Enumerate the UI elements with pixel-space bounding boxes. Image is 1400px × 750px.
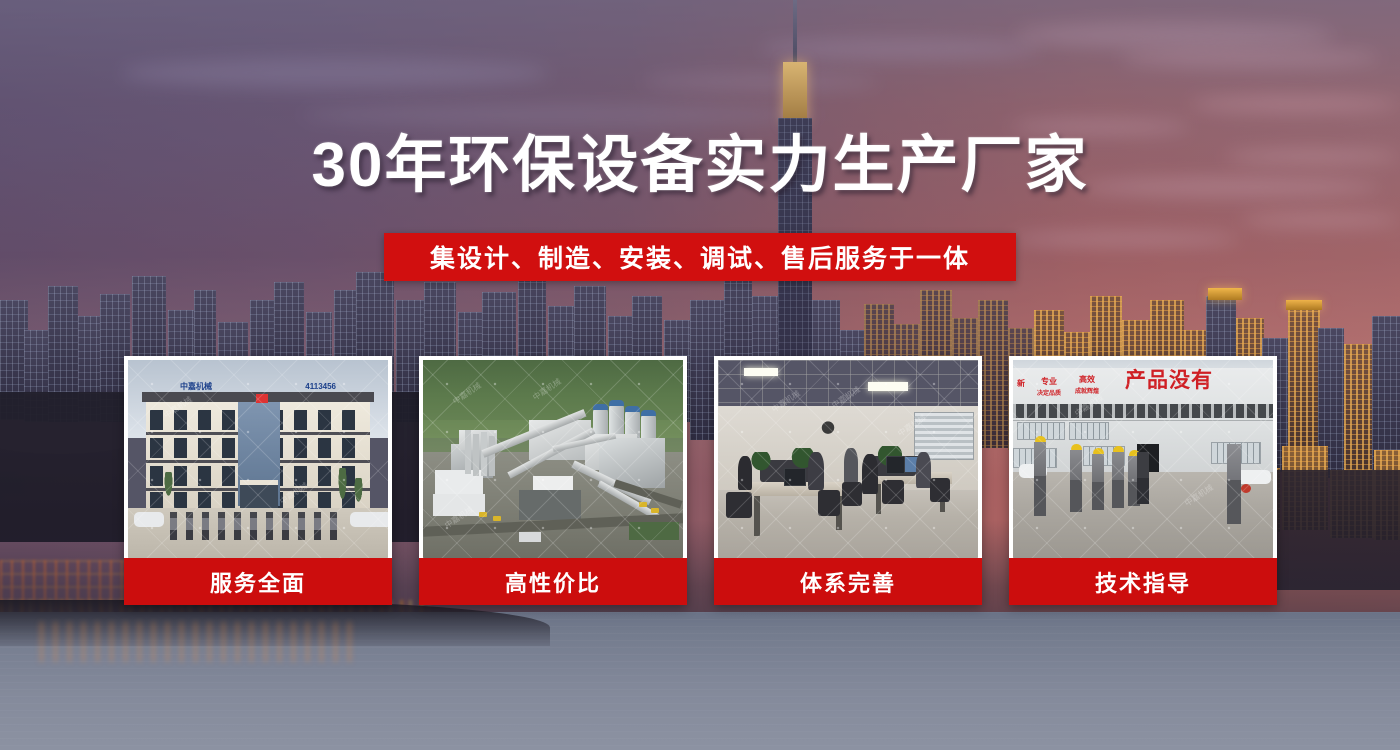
feature-card-row: 中嘉机械 4113456	[124, 356, 1277, 605]
building-sign-company: 中嘉机械	[180, 381, 212, 392]
wall-logo	[814, 418, 842, 442]
tower-lit-crown	[783, 62, 807, 124]
factory-workers-photo: 产品没有 新 专业 决定品质 高效 成就辉煌	[1013, 360, 1273, 558]
building-sign-phone: 4113456	[305, 382, 336, 391]
subtitle-text: 集设计、制造、安装、调试、售后服务于一体	[430, 239, 970, 275]
feature-card[interactable]: 产品没有 新 专业 决定品质 高效 成就辉煌	[1009, 356, 1277, 605]
card-caption: 体系完善	[714, 558, 982, 605]
water-light-reflection	[40, 622, 360, 662]
office-interior-photo: 中嘉机械 中嘉机械 中嘉机械	[718, 360, 978, 558]
company-office-building-photo: 中嘉机械 4113456	[128, 360, 388, 558]
tower-antenna	[793, 0, 797, 66]
card-caption: 高性价比	[419, 558, 687, 605]
page-title: 30年环保设备实力生产厂家	[0, 132, 1400, 200]
flag-icon	[256, 394, 268, 403]
building-sign: 中嘉机械 4113456	[180, 380, 336, 392]
aerial-production-plant-photo: 中嘉机械 中嘉机械 中嘉机械	[423, 360, 683, 558]
feature-card[interactable]: 中嘉机械 中嘉机械 中嘉机械 高性价比	[419, 356, 687, 605]
card-caption: 技术指导	[1009, 558, 1277, 605]
promo-banner-stage: 30年环保设备实力生产厂家 集设计、制造、安装、调试、售后服务于一体 中嘉机械 …	[0, 0, 1400, 750]
card-caption: 服务全面	[124, 558, 392, 605]
subtitle-banner: 集设计、制造、安装、调试、售后服务于一体	[384, 233, 1016, 281]
feature-card[interactable]: 中嘉机械 4113456	[124, 356, 392, 605]
red-helmet-icon	[1241, 484, 1251, 493]
factory-wall-slogan: 产品没有	[1125, 364, 1213, 394]
feature-card[interactable]: 中嘉机械 中嘉机械 中嘉机械 体系完善	[714, 356, 982, 605]
